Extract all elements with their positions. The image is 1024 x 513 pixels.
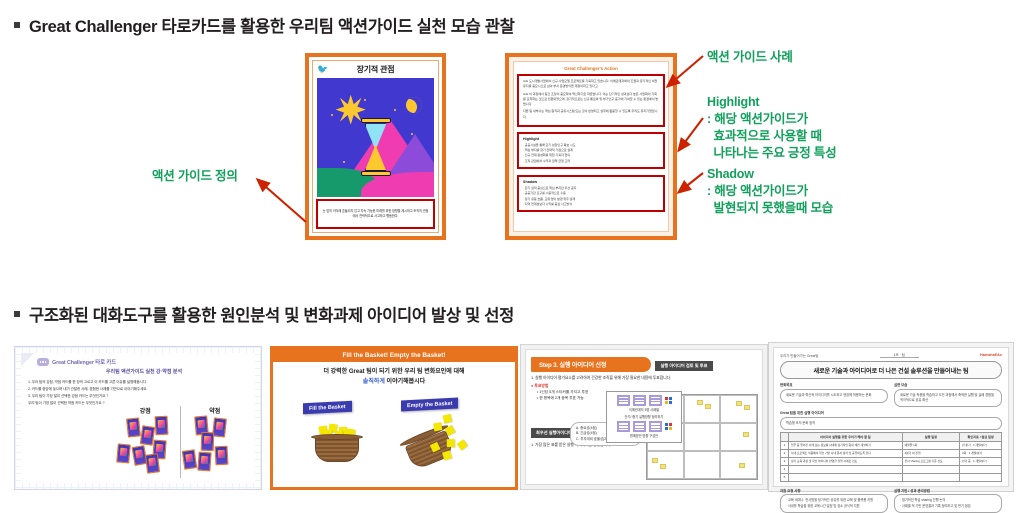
- table-cell-metric: 반기 중 · 1 개월/분기: [960, 457, 1002, 465]
- action-guide-sheet: Great Challenger's Action Ads 도시개발사업에서 신…: [505, 53, 677, 240]
- table-header-cell: [781, 432, 789, 441]
- slide3-center-panel: 이해관계자 5명 사례별 단기/ 중기 실행방향 정리하기 원예방안 방향 구성…: [606, 391, 682, 443]
- slide1-subtitle: 우리팀 액션가이드 실천 강·약점 분석: [40, 368, 248, 375]
- table-cell-task: [789, 473, 903, 481]
- section-heading-1-text: Great Challenger 타로카드를 활용한 우리팀 액션가이드 실천 …: [29, 13, 515, 37]
- slide-thumbnail-team-action-plan[interactable]: 우리가 만들어가는 Great팀 1조 · 팀 HanwhaE&c 새로운 기술…: [768, 342, 1014, 492]
- slide2-line2-highlight: 솔직하게: [363, 379, 385, 385]
- slide3-tag-review-vote: 실행 아이디어 검토 및 투표: [655, 361, 712, 371]
- slide4-field-realization-value[interactable]: 새로운 기술 적용을 학습하고 도전 과정에서 축적한 실행 및 실패 경험을 …: [894, 389, 1002, 408]
- table-row: 4: [781, 465, 1002, 473]
- slide3-bar-block: [633, 421, 646, 432]
- grid-cell: [684, 395, 721, 423]
- slide2-line2: 솔직하게 이야기해봅시다: [281, 378, 507, 388]
- artwork-star-dot: [411, 133, 413, 135]
- slide4-field-resources-label: 자원 요청 사항: [780, 488, 888, 493]
- slide4-table-head: 아이디어 실행을 위한 우리가 해야 할 일 실행 일정 확인지표 / 점검 일…: [781, 432, 1002, 441]
- table-cell-schedule: 전사 sharing 프로그램 기준 검토: [902, 457, 960, 465]
- action-guide-paragraph: Ads 이 과정에서 팀간 조정이 중요하여 혁신하기로 하였습니다. 이는 단…: [523, 92, 659, 108]
- slide1-header: Great Challenger 타로 카드: [37, 358, 248, 366]
- tarot-card-caption-box: 눈 앞의 이익에 흔들리지 않고 지속 가능한 미래를 위한 방향을 제시하고 …: [316, 199, 435, 229]
- table-cell-index: 5: [781, 473, 789, 481]
- annotation-shadow-body: : 해당 액션가이드가 발현되지 못했을때 모습: [707, 183, 833, 218]
- table-cell-metric: [960, 465, 1002, 473]
- slide1-card-columns: 강점 약점: [111, 406, 249, 478]
- mini-tarot-card[interactable]: [197, 452, 211, 472]
- slide4-content: 우리가 만들어가는 Great팀 1조 · 팀 HanwhaE&c 새로운 기술…: [773, 347, 1009, 487]
- slide3-item-1: 1. 실행 아이디어 평가요소를 고려하여 건강한 조직을 위해 가장 필요한 …: [531, 375, 757, 382]
- tarot-card-title: 장기적 관점: [357, 64, 395, 75]
- shadow-list: · 단기 실적 중심으로 핵심 부지만 우선 공지 · 공공기관 요구를 수동적…: [523, 186, 659, 207]
- highlight-list-item: · 조직 관점에서 수익과 정책 균형 고려: [523, 159, 659, 164]
- slide3-center-caption-2: 단기/ 중기 실행방향 정리하기: [625, 415, 664, 420]
- basket-tipped-icon: [395, 414, 459, 472]
- slide1-corner-fold: [21, 353, 34, 366]
- slide4-field-row-2: 자원 요청 사항 · 교육 세미나, 전사원을 정기적인 공유를 위한 교육 및…: [780, 485, 1002, 513]
- annotation-action-example: 액션 가이드 사례: [707, 49, 793, 66]
- annotation-highlight-body: : 해당 액션가이드가 효과적으로 사용할 때 나타나는 주요 긍정 특성: [707, 111, 836, 163]
- slide4-field-goal-label: 변화목표: [780, 382, 888, 387]
- artwork-star-dot: [331, 114, 333, 116]
- slide4-field-management-value[interactable]: · 정기적인 학습 sharing 진행 논의 · 사례별 적 기반 운영결과 …: [894, 494, 1002, 513]
- table-cell-task: [789, 465, 903, 473]
- speech-bubble-icon: [37, 358, 49, 366]
- slide4-headline: 새로운 기술과 아이디어로 더 나은 건설 솔루션을 만들어내는 팀: [780, 361, 1002, 379]
- action-guide-description-box: Ads 도시개발사업에서 신규 사업모델 프로젝트를 기획하고 있습니다. 이해…: [517, 74, 665, 127]
- highlight-label: Highlight: [523, 137, 659, 141]
- slide1-column-strength: 강점: [111, 406, 180, 478]
- mini-tarot-card[interactable]: [181, 449, 197, 470]
- annotation-action-example-text: 액션 가이드 사례: [707, 49, 793, 66]
- section-heading-1: Great Challenger 타로카드를 활용한 우리팀 액션가이드 실천 …: [14, 13, 515, 37]
- arrow-to-definition: [258, 180, 306, 222]
- slide-thumbnail-step3-idea-selection[interactable]: Step 3. 실행 아이디어 선정 실행 아이디어 검토 및 투표 1. 실행…: [520, 344, 768, 490]
- hourglass-cap-top: [361, 118, 391, 123]
- mini-tarot-card[interactable]: [145, 453, 160, 473]
- vote-dots-icon: [665, 397, 672, 404]
- table-row: 2 사내 프로젝트 적용에서 학습 기반 사내 문서 정리 및 공유하도록 한다…: [781, 449, 1002, 457]
- table-cell-schedule: [902, 465, 960, 473]
- table-row: 5: [781, 473, 1002, 481]
- table-cell-task: 업무 중 얻어진 사례 또는 정보를 사내에 정기적인 팀내 세션 개설하기: [789, 441, 903, 449]
- table-row: 1 업무 중 얻어진 사례 또는 정보를 사내에 정기적인 팀내 세션 개설하기…: [781, 441, 1002, 449]
- tarot-card-inner: 🐦 장기적 관점 눈 앞의 이익에 흔들리지 않고 지속 가능한 미래를 위한 …: [312, 60, 439, 233]
- slide4-team-field: 1조 · 팀: [880, 352, 919, 358]
- slide3-content: Step 3. 실행 아이디어 선정 실행 아이디어 검토 및 투표 1. 실행…: [525, 349, 763, 485]
- slide4-top-left-label: 우리가 만들어가는 Great팀: [780, 353, 818, 358]
- arrow-to-highlight: [679, 118, 703, 150]
- table-cell-schedule: 매월말 1회: [902, 441, 960, 449]
- mini-tarot-card[interactable]: [155, 416, 169, 436]
- slide-thumbnail-tarot-analysis[interactable]: Great Challenger 타로 카드 우리팀 액션가이드 실천 강·약점…: [14, 346, 262, 490]
- slide2-line1: 더 강력한 Great 팀이 되기 위한 우리 팀 변화요인에 대해: [281, 368, 507, 378]
- slide4-field-management: 실행 기반 / 성과 관리방법 · 정기적인 학습 sharing 진행 논의 …: [894, 485, 1002, 513]
- arrow-to-shadow: [679, 173, 703, 192]
- grid-cell: [684, 451, 721, 479]
- slide3-title-bar: Step 3. 실행 아이디어 선정: [531, 357, 651, 372]
- mini-tarot-card[interactable]: [214, 446, 228, 466]
- annotation-definition-text: 액션 가이드 정의: [152, 168, 238, 185]
- slide4-action-table: 아이디어 실행을 위한 우리가 해야 할 일 실행 일정 확인지표 / 점검 일…: [780, 432, 1002, 482]
- hourglass-cap-bottom: [361, 171, 391, 176]
- shadow-list-item: · 지역 연계성보다 수익률 중심 사고방식: [523, 202, 659, 207]
- slide1-question: 1. 우리 팀의 강점, 약점 카드를 한 장씩 고르고 이 카드를 고른 이유…: [28, 379, 248, 385]
- table-cell-index: 4: [781, 465, 789, 473]
- slide3-center-caption-3: 원예방안 방향 구성안: [630, 434, 658, 439]
- shadow-box: Shadow · 단기 실적 중심으로 핵심 부지만 우선 공지 · 공공기관 …: [517, 175, 665, 212]
- bird-logo-icon: 🐦: [317, 65, 328, 74]
- slide4-field-resources: 자원 요청 사항 · 교육 세미나, 전사원을 정기적인 공유를 위한 교육 및…: [780, 485, 888, 513]
- table-cell-schedule: [902, 473, 960, 481]
- slide3-bar-block: [617, 421, 630, 432]
- slide4-field-ideas-label: Great 팀을 위한 실행 아이디어: [780, 410, 1002, 415]
- bullet-icon: [14, 22, 20, 28]
- table-cell-task: 정기 교육 과정 및 학습 아이디어 반영한 실행 사례로 검토: [789, 457, 903, 465]
- highlight-list: · 공공시설을 통해 단기 성장인구 확보 시도 · 핵심 부지를 장기 전략적…: [523, 143, 659, 164]
- brand-logo: HanwhaE&c: [980, 353, 1002, 357]
- table-cell-task: 사내 프로젝트 적용에서 학습 기반 사내 문서 정리 및 공유하도록 한다: [789, 449, 903, 457]
- table-header-cell: 실행 일정: [902, 432, 960, 441]
- tarot-card-artwork: [317, 78, 434, 197]
- slide4-field-realization: 실현 모습 새로운 기술 적용을 학습하고 도전 과정에서 축적한 실행 및 실…: [894, 379, 1002, 407]
- table-header-row: 아이디어 실행을 위한 우리가 해야 할 일 실행 일정 확인지표 / 점검 일…: [781, 432, 1002, 441]
- slide1-question: 3. 우리 팀이 가장 많이 선택한 강점 카드는 무엇인가요 ?: [28, 393, 248, 399]
- highlight-box: Highlight · 공공시설을 통해 단기 성장인구 확보 시도 · 핵심 …: [517, 132, 665, 169]
- slide3-center-caption-1: 이해관계자 5명 사례별: [629, 408, 659, 413]
- slide2-chip-empty: Empty the Basket: [401, 397, 458, 411]
- slide-thumbnail-fill-empty-basket[interactable]: Fill the Basket! Empty the Basket! 더 강력한…: [270, 346, 518, 490]
- slide4-field-resources-value[interactable]: · 교육 세미나, 전사원을 정기적인 공유를 위한 교육 및 플랫폼 지원 ·…: [780, 494, 888, 513]
- table-cell-metric: 3회 · 1 개월/분기: [960, 449, 1002, 457]
- table-cell-index: 3: [781, 457, 789, 465]
- slide1-column-strength-label: 강점: [111, 406, 180, 415]
- hourglass-body: [365, 123, 387, 171]
- slide4-field-goal: 변화목표 새로운 기술과 혁신적 아이디어를 시도하고 현장에 적용하는 문화: [780, 379, 888, 407]
- basket-full-icon: [311, 424, 363, 462]
- slide1-column-weakness: 약점: [180, 406, 250, 478]
- table-cell-index: 2: [781, 449, 789, 457]
- slide4-topline: 우리가 만들어가는 Great팀 1조 · 팀 HanwhaE&c: [780, 352, 1002, 358]
- slide4-field-management-label: 실행 기반 / 성과 관리방법: [894, 488, 1002, 493]
- annotation-highlight-title: Highlight: [707, 94, 836, 111]
- slide3-bar-block: [649, 421, 662, 432]
- grid-cell: [647, 451, 684, 479]
- section-heading-2: 구조화된 대화도구를 활용한 원인분석 및 변화과제 아이디어 발상 및 선정: [14, 302, 514, 326]
- action-guide-paragraph: 다른 팀 내부사는 핵심 원칙과 공유시스템 또는 것이 반영되고 실무에 활용…: [523, 109, 659, 120]
- slide1-column-weakness-label: 약점: [181, 406, 250, 415]
- shadow-label: Shadow: [523, 180, 659, 184]
- section-heading-2-text: 구조화된 대화도구를 활용한 원인분석 및 변화과제 아이디어 발상 및 선정: [29, 302, 514, 326]
- slide4-field-ideas-value[interactable]: 학습형 조직 문화 정착: [780, 417, 1002, 430]
- slide1-question: 2. 카드를 중앙에 놓으며 내가 관찰한 사례, 경험한 사례를 기반으로 이…: [28, 386, 248, 392]
- mini-tarot-card[interactable]: [126, 417, 141, 437]
- slide3-bar-row: [617, 421, 672, 432]
- table-header-cell: 확인지표 / 점검 일정: [960, 432, 1002, 441]
- tarot-card-caption-text: 눈 앞의 이익에 흔들리지 않고 지속 가능한 미래를 위한 방향을 제시하고 …: [322, 209, 429, 219]
- basket-rim: [311, 434, 363, 440]
- slide2-chip-fill: Fill the Basket: [303, 401, 352, 415]
- annotation-shadow: Shadow : 해당 액션가이드가 발현되지 못했을때 모습: [707, 166, 833, 217]
- table-cell-metric: [960, 473, 1002, 481]
- slide1-content: Great Challenger 타로 카드 우리팀 액션가이드 실천 강·약점…: [21, 353, 255, 483]
- annotation-definition: 액션 가이드 정의: [152, 168, 238, 185]
- slide2-title-bar: Fill the Basket! Empty the Basket!: [273, 349, 515, 362]
- slide3-bar-row: [617, 395, 672, 406]
- slide4-table-body: 1 업무 중 얻어진 사례 또는 정보를 사내에 정기적인 팀내 세션 개설하기…: [781, 441, 1002, 481]
- slide2-body: 더 강력한 Great 팀이 되기 위한 우리 팀 변화요인에 대해 솔직하게 …: [273, 362, 515, 487]
- artwork-hourglass-icon: [361, 118, 391, 176]
- table-cell-schedule: 4분기 내 진행: [902, 449, 960, 457]
- grid-cell: [720, 423, 757, 451]
- mini-tarot-card[interactable]: [200, 432, 214, 451]
- annotation-shadow-title: Shadow: [707, 166, 833, 183]
- table-cell-metric: 반 분기 · 1 개월/분기: [960, 441, 1002, 449]
- slide1-title: Great Challenger 타로 카드: [52, 358, 116, 366]
- annotation-highlight: Highlight : 해당 액션가이드가 효과적으로 사용할 때 나타나는 주…: [707, 94, 836, 163]
- grid-cell: [720, 451, 757, 479]
- table-header-cell: 아이디어 실행을 위한 우리가 해야 할 일: [789, 432, 903, 441]
- table-cell-index: 1: [781, 441, 789, 449]
- tarot-card-header: 🐦 장기적 관점: [313, 61, 438, 78]
- table-row: 3 정기 교육 과정 및 학습 아이디어 반영한 실행 사례로 검토 전사 sh…: [781, 457, 1002, 465]
- grid-cell: [720, 395, 757, 423]
- slide4-field-realization-label: 실현 모습: [894, 382, 1002, 387]
- slide4-field-goal-value[interactable]: 새로운 기술과 혁신적 아이디어를 시도하고 현장에 적용하는 문화: [780, 389, 888, 403]
- slide3-bar-block: [649, 395, 662, 406]
- action-guide-paragraph: Ads 도시개발사업에서 신규 사업모델 프로젝트를 기획하고 있습니다. 이해…: [523, 79, 659, 90]
- slide4-field-row-1: 변화목표 새로운 기술과 혁신적 아이디어를 시도하고 현장에 적용하는 문화 …: [780, 379, 1002, 407]
- action-guide-title: Great Challenger's Action: [517, 65, 665, 71]
- grid-cell: [684, 423, 721, 451]
- vote-dots-icon: [665, 423, 672, 430]
- tarot-card: 🐦 장기적 관점 눈 앞의 이익에 흔들리지 않고 지속 가능한 미래를 위한 …: [305, 53, 446, 240]
- mini-tarot-card[interactable]: [116, 443, 131, 463]
- bullet-icon: [14, 311, 20, 317]
- action-guide-inner: Great Challenger's Action Ads 도시개발사업에서 신…: [513, 61, 669, 232]
- slide3-bar-block: [633, 395, 646, 406]
- slide2-line2-rest: 이야기해봅시다: [385, 379, 425, 385]
- slide3-bar-block: [617, 395, 630, 406]
